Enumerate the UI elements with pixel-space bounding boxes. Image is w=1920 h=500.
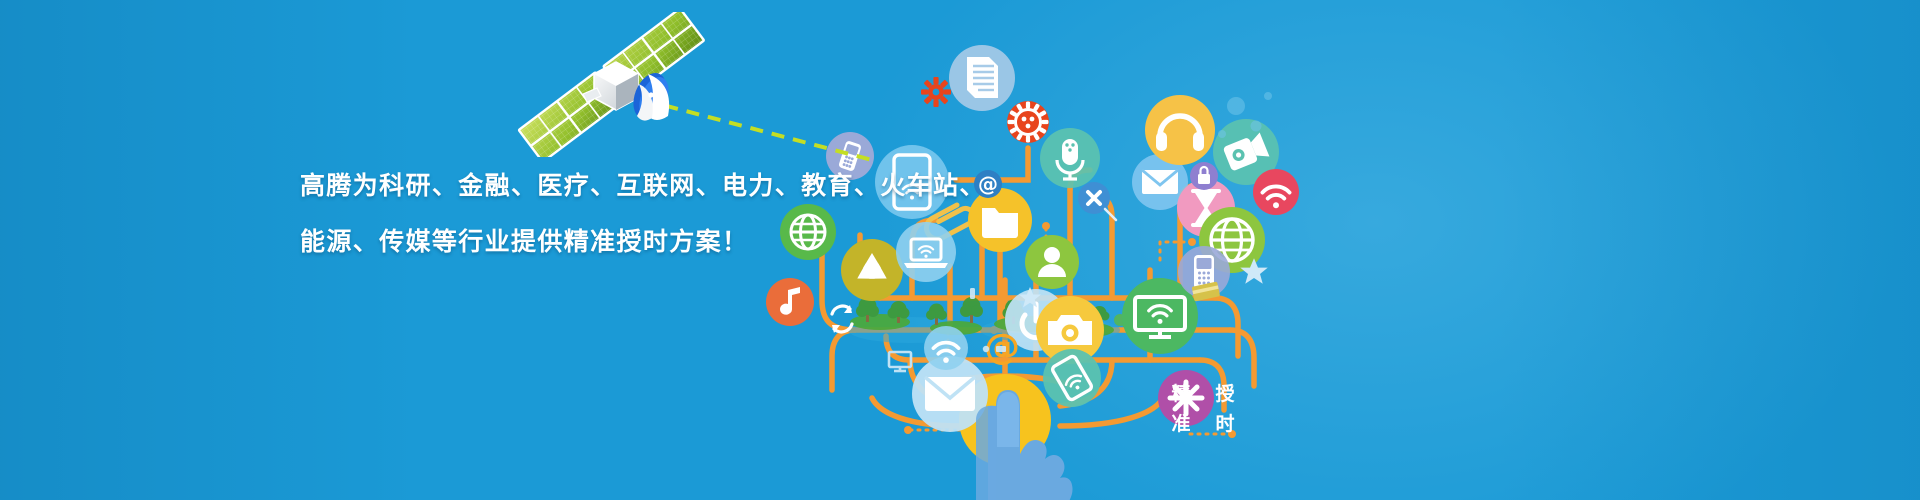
asterisk-icon <box>1158 370 1214 426</box>
communications-satellite <box>498 12 728 157</box>
music-note-icon <box>766 278 814 326</box>
lock-icon <box>1190 162 1218 190</box>
headline-block: 高腾为科研、金融、医疗、互联网、电力、教育、火车站、 能源、传媒等行业提供精准授… <box>300 158 860 270</box>
gear-orange-icon <box>1007 101 1049 143</box>
gear-red-icon <box>921 77 951 107</box>
document-icon <box>949 45 1015 111</box>
smart-device-wifi-icon <box>1043 349 1101 407</box>
headline-line-1: 高腾为科研、金融、医疗、互联网、电力、教育、火车站、 <box>300 158 860 214</box>
rss-wifi-icon <box>924 326 968 370</box>
wifi-signal-icon <box>1253 169 1299 215</box>
laptop-icon <box>896 222 956 282</box>
headline-line-2: 能源、传媒等行业提供精准授时方案！ <box>300 214 860 270</box>
user-icon <box>1025 235 1079 289</box>
headphones-icon <box>1145 95 1215 165</box>
microphone-icon <box>1040 128 1100 188</box>
banner-stage: @ <box>0 0 1920 500</box>
